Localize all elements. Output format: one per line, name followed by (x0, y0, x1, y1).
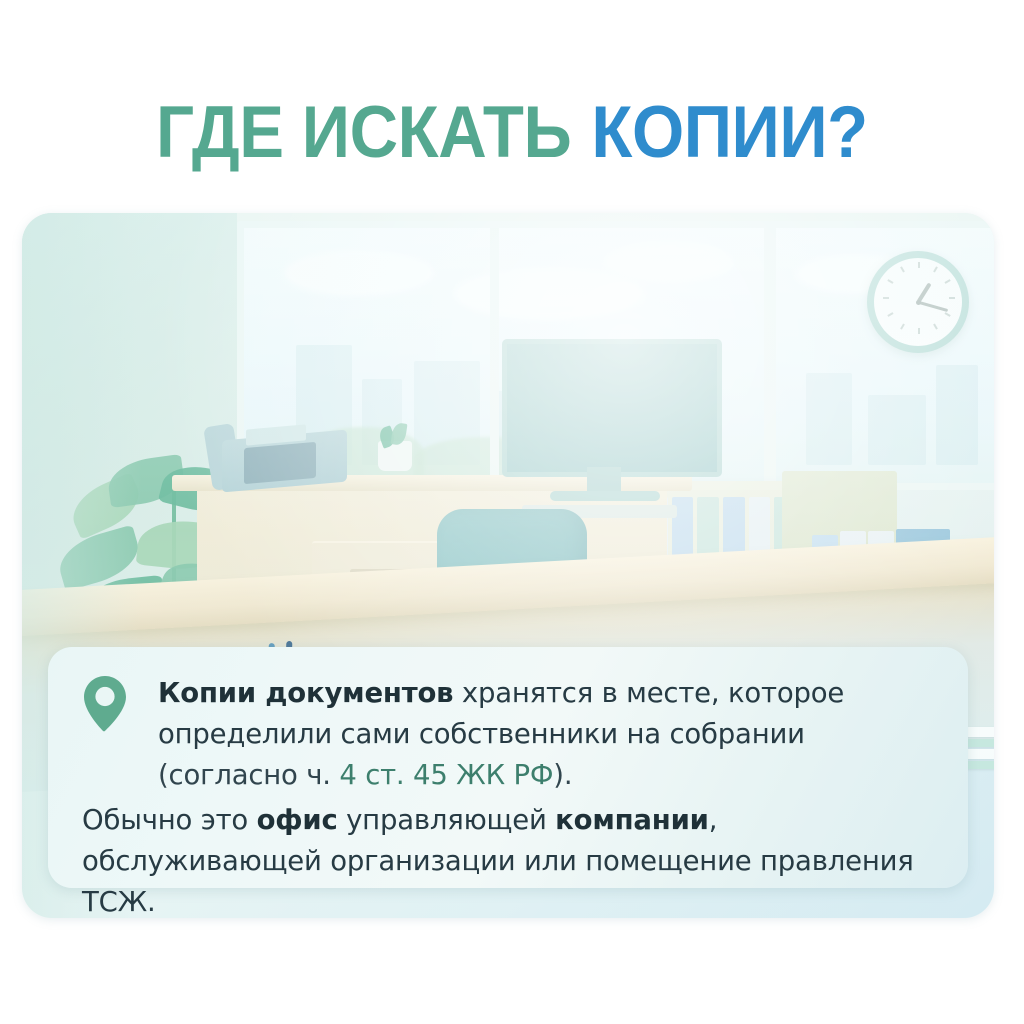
phone-keypad (244, 442, 316, 484)
bold-company: компании (555, 804, 709, 836)
window-mullion (490, 228, 499, 483)
monitor-icon (502, 339, 722, 477)
wall-clock-icon (867, 251, 969, 353)
clock-minute-hand (918, 301, 949, 312)
paragraph-usual-place: Обычно это офис управляющей компании, об… (78, 800, 938, 918)
law-open-paren: (согласно ч. (158, 759, 339, 791)
monitor-stand (587, 467, 621, 493)
clock-tick (900, 323, 905, 329)
clock-tick (918, 262, 920, 268)
paragraph-copies-location: Копии документов хранятся в месте, котор… (78, 673, 938, 796)
paragraph2-mid: управляющей (338, 804, 556, 836)
location-pin-icon (82, 675, 128, 733)
clock-center (916, 300, 921, 305)
clock-tick (883, 297, 889, 299)
clock-tick (933, 266, 938, 272)
paragraph2-lead: Обычно это (82, 804, 257, 836)
info-text-panel: Копии документов хранятся в месте, котор… (48, 647, 968, 888)
window-right (769, 221, 994, 490)
cloud-icon (454, 268, 644, 320)
info-card: ОСС (22, 213, 994, 918)
cloud-icon (284, 250, 434, 296)
pin-row: Копии документов хранятся в месте, котор… (78, 673, 938, 796)
cloud-icon (604, 242, 734, 282)
monitor-base (550, 491, 660, 501)
clock-tick (944, 279, 950, 284)
clock-tick (949, 297, 955, 299)
building-shape (868, 395, 926, 465)
clock-tick (918, 328, 920, 334)
clock-tick (933, 323, 938, 329)
title-segment-blue: КОПИИ? (592, 92, 868, 173)
title-text: ГДЕ ИСКАТЬКОПИИ? (156, 96, 868, 169)
clock-tick (887, 312, 893, 317)
building-shape (936, 365, 978, 465)
law-close-paren: ). (553, 759, 572, 791)
clock-tick (900, 266, 905, 272)
title-segment-green: ГДЕ ИСКАТЬ (156, 92, 571, 173)
bold-office: офис (257, 804, 338, 836)
page-title: ГДЕ ИСКАТЬКОПИИ? (0, 96, 1024, 169)
law-reference: 4 ст. 45 ЖК РФ (339, 759, 553, 791)
bold-copies-documents: Копии документов (158, 677, 453, 709)
building-shape (806, 373, 852, 465)
clock-tick (944, 312, 950, 317)
clock-tick (887, 279, 893, 284)
